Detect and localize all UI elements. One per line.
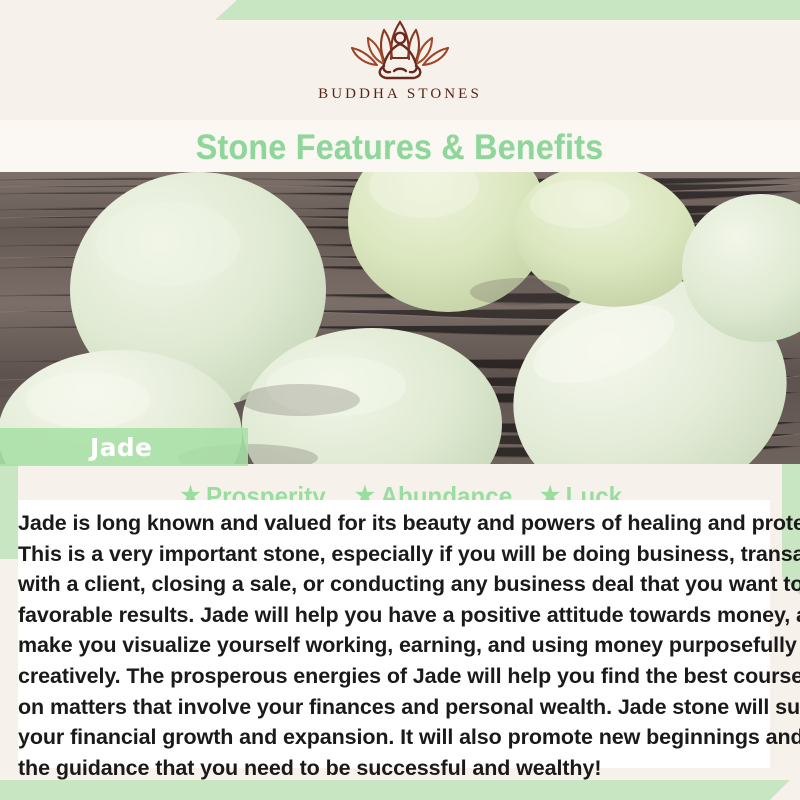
description-line: favorable results. Jade will help you ha… bbox=[18, 600, 782, 631]
infographic-page: BUDDHA STONES Stone Features & Benefits bbox=[0, 0, 800, 800]
stone-photo-graphic bbox=[0, 172, 800, 464]
stone-name: Jade bbox=[90, 433, 152, 462]
brand-name: BUDDHA STONES bbox=[318, 86, 482, 103]
brand-logo: BUDDHA STONES bbox=[0, 16, 800, 116]
page-title: Stone Features & Benefits bbox=[196, 128, 604, 168]
stone-description: Jade is long known and valued for its be… bbox=[18, 508, 782, 783]
lotus-meditation-icon bbox=[340, 16, 460, 82]
description-line: This is a very important stone, especial… bbox=[18, 539, 782, 570]
description-line: on matters that involve your finances an… bbox=[18, 692, 782, 723]
description-line: with a client, closing a sale, or conduc… bbox=[18, 569, 782, 600]
description-line: the guidance that you need to be success… bbox=[18, 753, 782, 784]
description-line: make you visualize yourself working, ear… bbox=[18, 630, 782, 661]
stone-name-badge: Jade bbox=[0, 428, 248, 466]
description-line: your financial growth and expansion. It … bbox=[18, 722, 782, 753]
stone-photo bbox=[0, 172, 800, 464]
description-line: Jade is long known and valued for its be… bbox=[18, 508, 782, 539]
description-line: creatively. The prosperous energies of J… bbox=[18, 661, 782, 692]
title-banner: Stone Features & Benefits bbox=[0, 120, 800, 175]
